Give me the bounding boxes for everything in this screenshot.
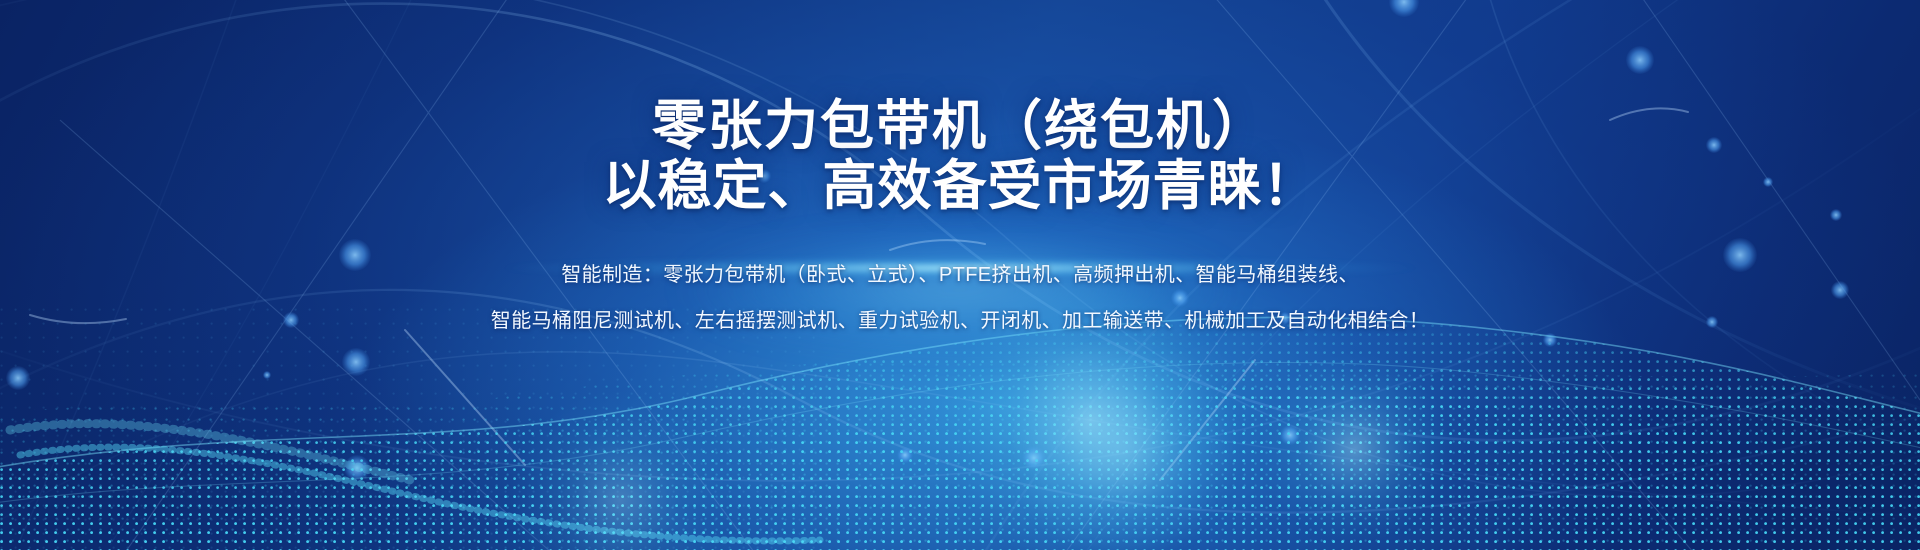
banner-title-line-1: 零张力包带机（绕包机） — [652, 96, 1268, 156]
banner-subtitle-line-2: 智能马桶阻尼测试机、左右摇摆测试机、重力试验机、开闭机、加工输送带、机械加工及自… — [491, 311, 1429, 331]
banner-subtitle-line-1: 智能制造：零张力包带机（卧式、立式）、PTFE挤出机、高频押出机、智能马桶组装线… — [491, 265, 1429, 285]
hero-banner: 零张力包带机（绕包机） 以稳定、高效备受市场青睐！ 智能制造：零张力包带机（卧式… — [0, 0, 1920, 550]
banner-subtitle-block: 智能制造：零张力包带机（卧式、立式）、PTFE挤出机、高频押出机、智能马桶组装线… — [491, 265, 1429, 331]
banner-title-line-2: 以稳定、高效备受市场青睐！ — [603, 156, 1318, 216]
banner-text-block: 零张力包带机（绕包机） 以稳定、高效备受市场青睐！ 智能制造：零张力包带机（卧式… — [0, 0, 1920, 550]
